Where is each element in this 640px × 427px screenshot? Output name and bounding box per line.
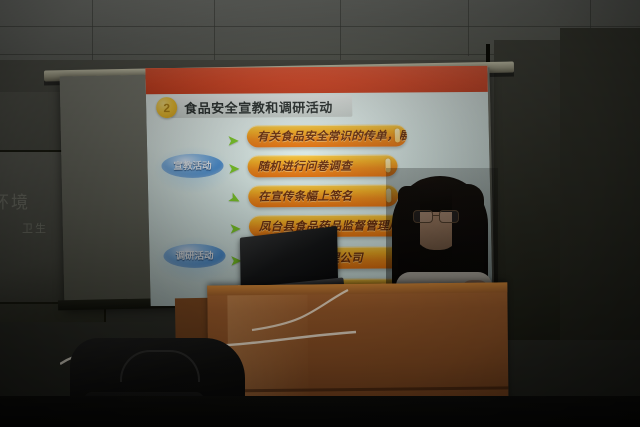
group-disc-diaoyan: 调研活动	[163, 244, 226, 278]
board-text-line1: 环境	[0, 188, 30, 213]
arrow-icon: ➤	[229, 222, 242, 237]
bullet-bar: 在宣传条幅上签名	[248, 184, 399, 207]
disc-label: 宣教活动	[161, 158, 223, 172]
arrow-icon: ➤	[227, 162, 240, 177]
section-number-label: 2	[163, 102, 170, 114]
bullet-text: 随机进行问卷调查	[247, 158, 352, 175]
slide-title: 食品安全宣教和调研活动	[184, 97, 364, 117]
bullet-text: 有关食品安全常识的传单，展板	[247, 127, 407, 144]
board-text-line2: 卫生	[22, 220, 48, 236]
arrow-icon: ➤	[227, 134, 240, 149]
section-number-badge: 2	[156, 97, 177, 118]
podium-top-edge	[207, 282, 507, 295]
group-disc-xuanjiao: 宣教活动	[161, 154, 224, 188]
bullet-text: 在宣传条幅上签名	[248, 188, 353, 205]
slide-top-banner	[145, 66, 488, 94]
disc-label: 调研活动	[163, 248, 225, 262]
bullet-bar: 随机进行问卷调查	[247, 154, 398, 177]
bullet-bar: 有关食品安全常识的传单，展板	[247, 124, 408, 147]
arrow-icon: ➤	[226, 190, 244, 209]
photo-scene: 环境 卫生 2 食品安全宣教和调研活动 宣教活动	[0, 0, 640, 427]
bar-tab	[395, 128, 400, 142]
corner-column	[560, 28, 640, 340]
glasses-icon	[413, 210, 461, 222]
floor-shadow	[0, 396, 640, 427]
